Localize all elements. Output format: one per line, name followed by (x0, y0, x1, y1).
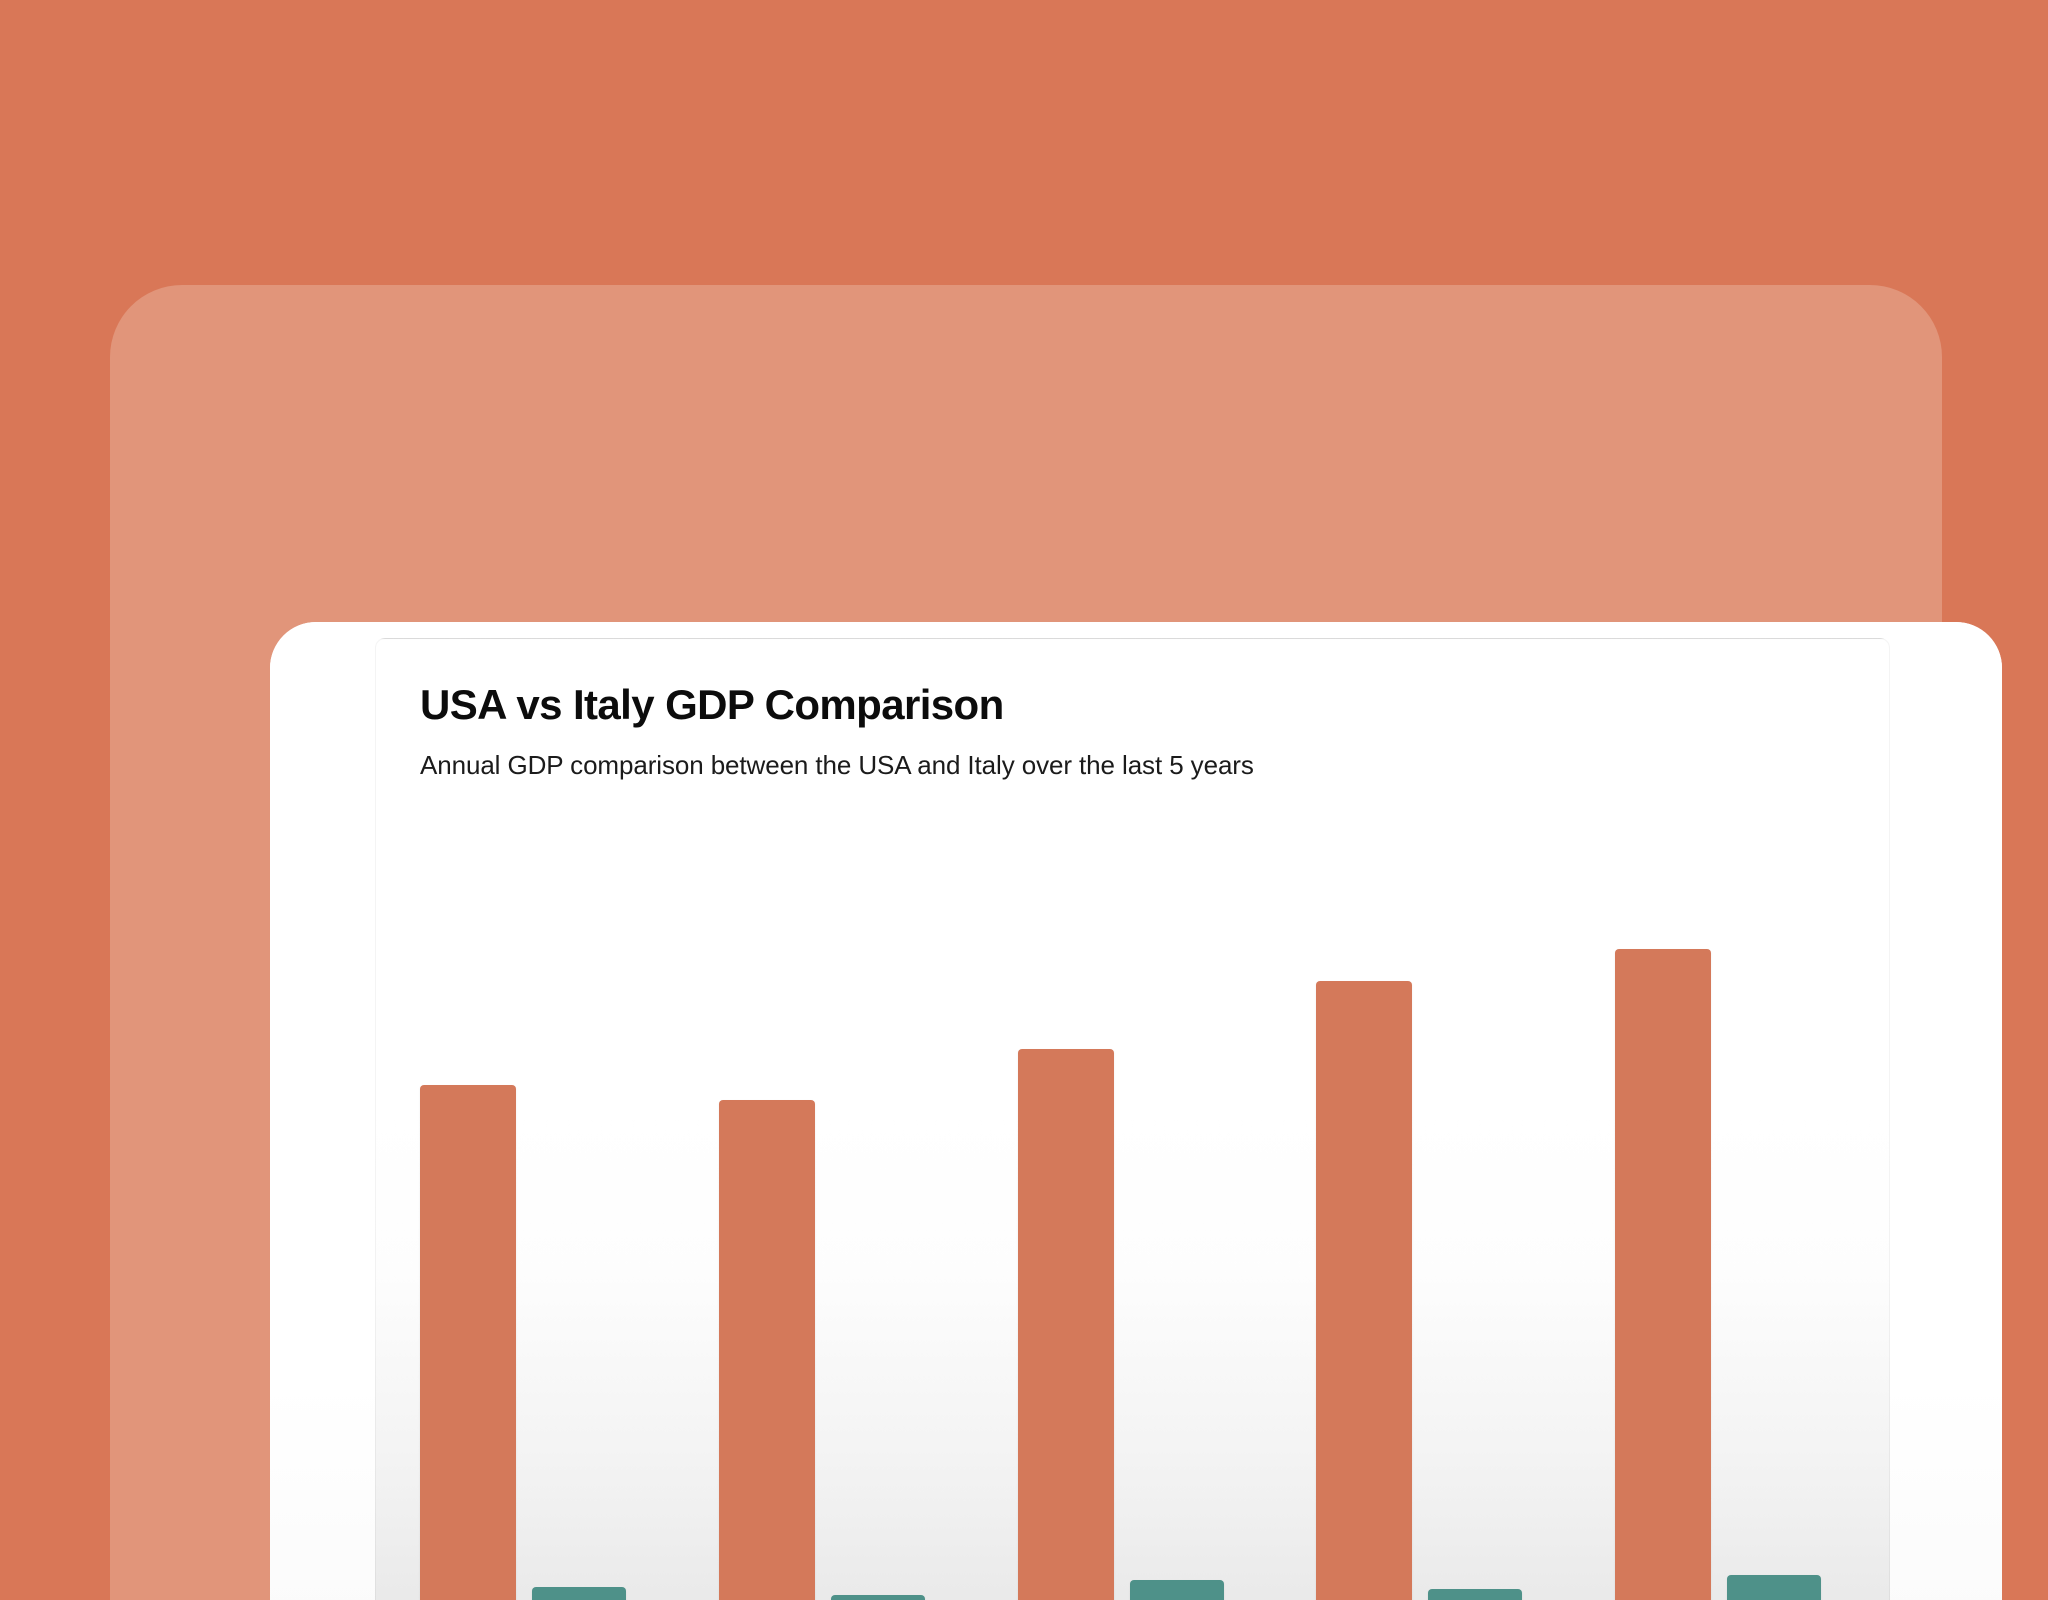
bar-italy[interactable] (1130, 1580, 1224, 1600)
chart-plot-area (420, 849, 1847, 1600)
bar-italy[interactable] (532, 1587, 626, 1600)
bar-usa[interactable] (1018, 1049, 1114, 1600)
device-frame: USA vs Italy GDP Comparison Annual GDP c… (110, 285, 1942, 1600)
bar-group (1018, 849, 1250, 1600)
bar-group (1316, 849, 1548, 1600)
bar-italy[interactable] (1727, 1575, 1821, 1600)
chart-card-header: USA vs Italy GDP Comparison Annual GDP c… (376, 639, 1889, 781)
chart-subtitle: Annual GDP comparison between the USA an… (420, 750, 1845, 781)
chart-card: USA vs Italy GDP Comparison Annual GDP c… (375, 638, 1890, 1600)
bar-usa[interactable] (420, 1085, 516, 1600)
bar-group (420, 849, 652, 1600)
bar-italy[interactable] (1428, 1589, 1522, 1600)
bar-group (1615, 849, 1847, 1600)
bar-usa[interactable] (1615, 949, 1711, 1600)
bar-usa[interactable] (719, 1100, 815, 1600)
bar-italy[interactable] (831, 1595, 925, 1600)
bar-usa[interactable] (1316, 981, 1412, 1600)
app-surface: USA vs Italy GDP Comparison Annual GDP c… (270, 622, 2002, 1600)
bar-group-container (420, 849, 1847, 1600)
page-title: USA vs Italy GDP Comparison (420, 681, 1845, 728)
bar-group (719, 849, 951, 1600)
screenshot-root: USA vs Italy GDP Comparison Annual GDP c… (0, 0, 2048, 1600)
